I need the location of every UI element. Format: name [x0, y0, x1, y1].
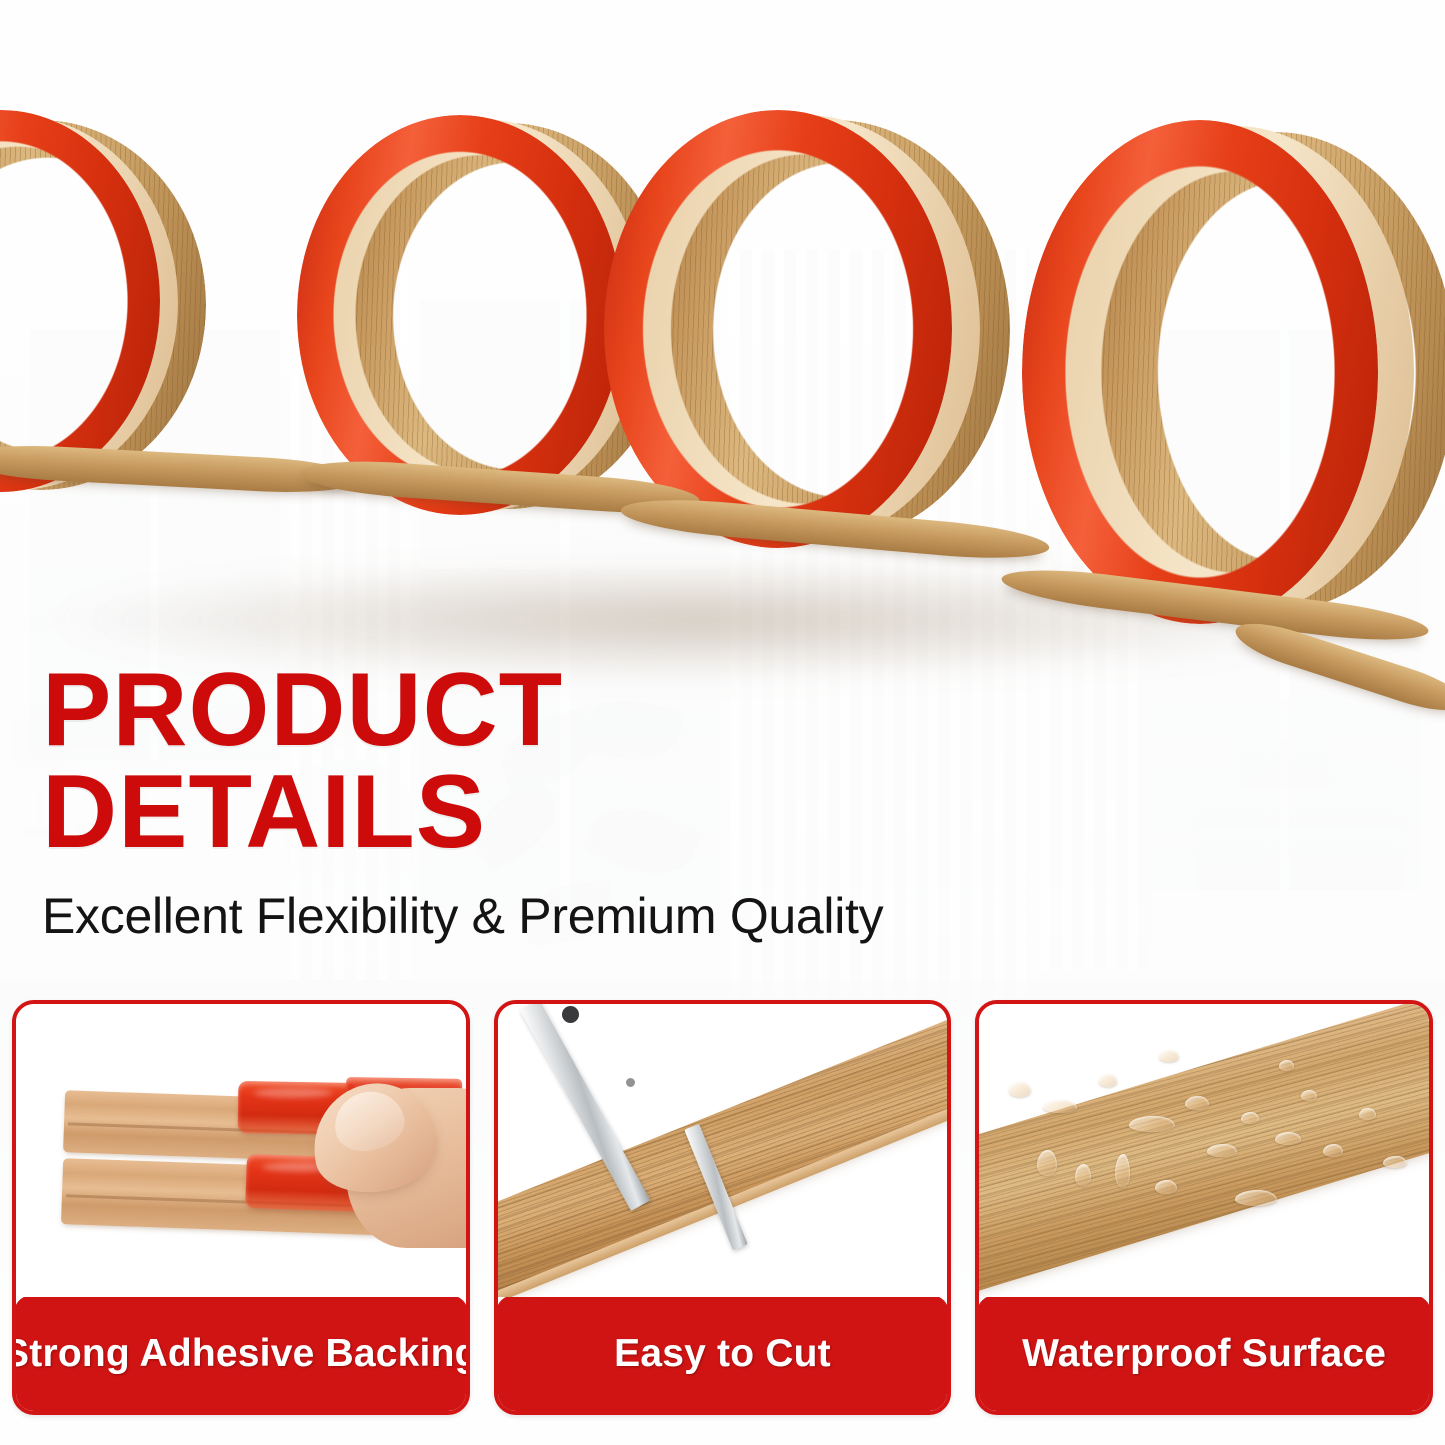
water-droplet	[1043, 1100, 1077, 1113]
title-line-2: DETAILS	[42, 762, 762, 864]
caption-text: Easy to Cut	[614, 1332, 831, 1376]
panel-caption-cut: Easy to Cut	[496, 1295, 950, 1413]
title-line-1: PRODUCT	[42, 652, 563, 768]
feature-panel-cut[interactable]: Easy to Cut	[494, 1000, 952, 1415]
product-detail-image: PRODUCT DETAILS Excellent Flexibility & …	[0, 0, 1445, 1445]
water-droplet	[1301, 1090, 1317, 1101]
feature-image-waterproof	[979, 1004, 1429, 1297]
water-droplet	[1235, 1190, 1277, 1206]
water-droplet	[1323, 1144, 1343, 1157]
water-droplet	[1279, 1060, 1294, 1071]
scissors-screw	[626, 1078, 635, 1087]
panel-caption-waterproof: Waterproof Surface	[977, 1295, 1431, 1413]
water-droplet	[1155, 1180, 1177, 1194]
water-droplet	[1275, 1132, 1301, 1145]
panel-caption-adhesive: Strong Adhesive Backing	[14, 1295, 468, 1413]
water-droplet	[1129, 1116, 1175, 1132]
water-droplet	[1241, 1112, 1259, 1124]
caption-text: Strong Adhesive Backing	[12, 1332, 470, 1376]
adhesive-highlight	[254, 1088, 332, 1098]
feature-panel-waterproof[interactable]: Waterproof Surface	[975, 1000, 1433, 1415]
water-droplet	[1159, 1050, 1179, 1062]
coil-loop-4	[1000, 120, 1445, 630]
coil-loop-1	[0, 110, 230, 500]
page-subtitle: Excellent Flexibility & Premium Quality	[42, 890, 762, 943]
water-droplet	[1383, 1156, 1407, 1168]
water-droplet	[1207, 1144, 1237, 1157]
water-droplet	[1037, 1150, 1057, 1176]
feature-image-cut	[498, 1004, 948, 1297]
water-droplet	[1185, 1096, 1209, 1110]
caption-text: Waterproof Surface	[1022, 1332, 1386, 1376]
feature-panel-row: Strong Adhesive Backing Easy to Cut	[12, 1000, 1433, 1415]
water-droplet	[1009, 1082, 1031, 1097]
feature-image-adhesive	[16, 1004, 466, 1297]
feature-panel-adhesive[interactable]: Strong Adhesive Backing	[12, 1000, 470, 1415]
page-title: PRODUCT DETAILS	[42, 660, 762, 864]
water-droplet	[1099, 1074, 1117, 1087]
scissors-pivot	[562, 1006, 579, 1023]
headline-block: PRODUCT DETAILS Excellent Flexibility & …	[42, 660, 762, 942]
water-droplet	[1075, 1164, 1091, 1186]
water-droplet	[1359, 1108, 1376, 1120]
